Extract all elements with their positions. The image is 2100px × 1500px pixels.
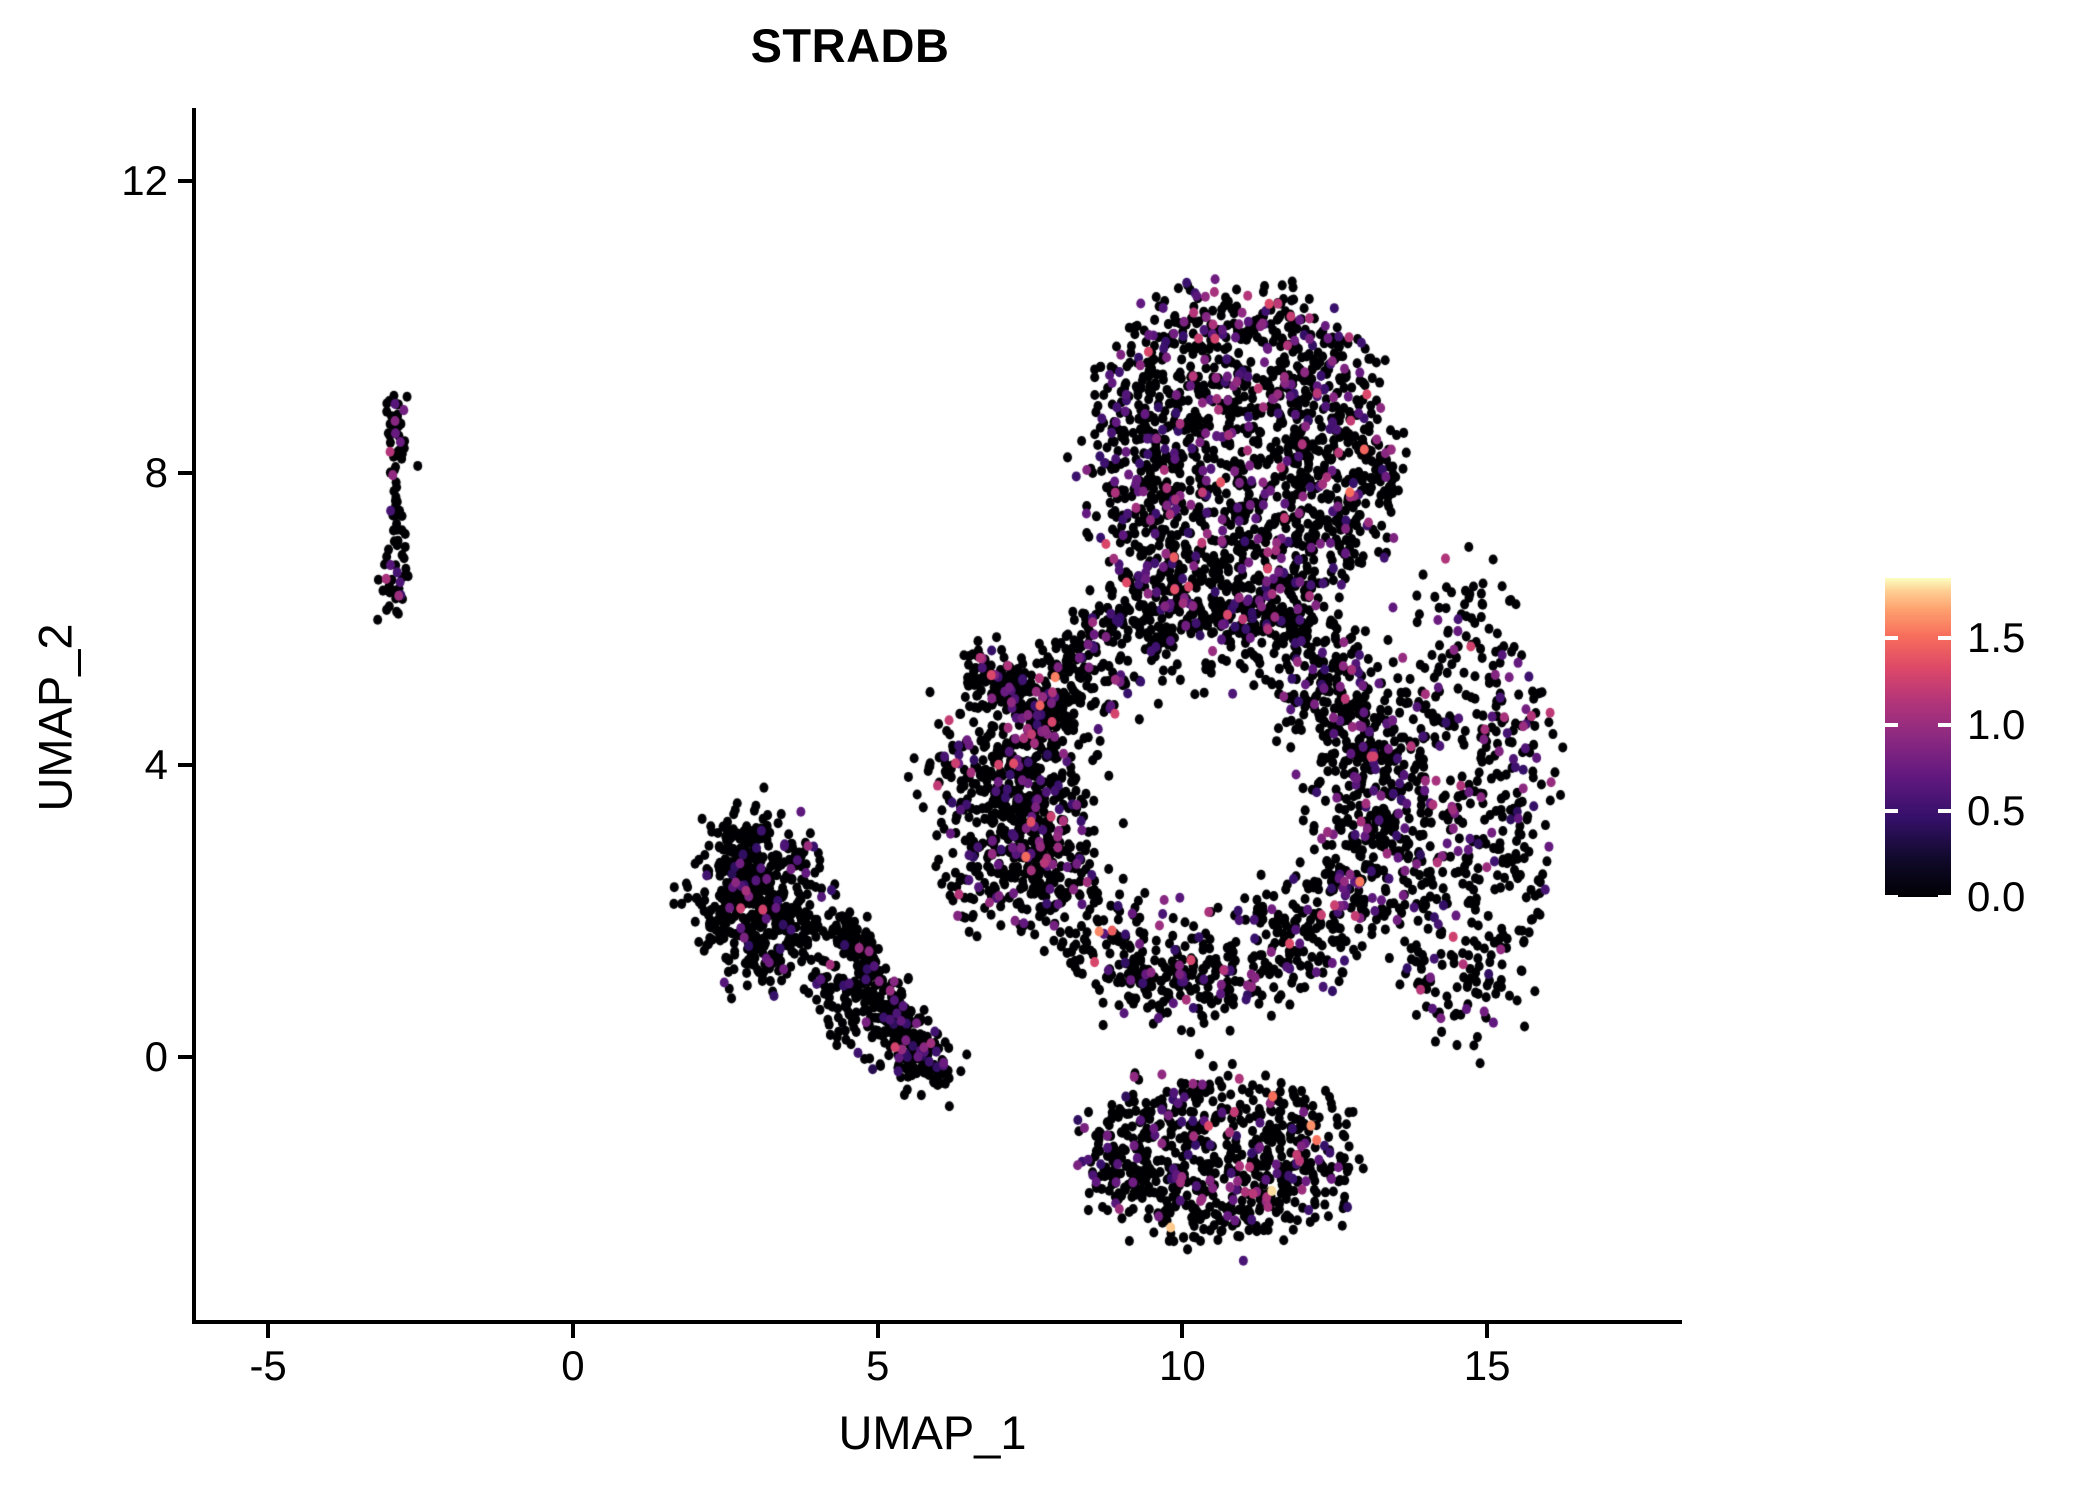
legend-tick-label: 0.5 xyxy=(1967,790,2025,832)
legend-tick-label: 0.0 xyxy=(1967,876,2025,918)
x-tick-label: 15 xyxy=(1464,1345,1511,1387)
x-tick-mark xyxy=(1485,1324,1489,1338)
legend-tick-label: 1.5 xyxy=(1967,617,2025,659)
x-axis-line xyxy=(192,1320,1682,1324)
y-tick-label: 4 xyxy=(145,744,168,786)
color-legend-gradient xyxy=(1885,578,1951,897)
legend-tick-mark xyxy=(1885,636,1898,640)
legend-tick-mark xyxy=(1885,895,1898,899)
y-tick-label: 0 xyxy=(145,1036,168,1078)
x-tick-mark xyxy=(1180,1324,1184,1338)
y-tick-mark xyxy=(178,471,192,475)
x-tick-mark xyxy=(266,1324,270,1338)
legend-tick-mark xyxy=(1885,723,1898,727)
legend-tick-mark xyxy=(1938,895,1951,899)
legend-tick-mark xyxy=(1938,809,1951,813)
x-tick-label: 0 xyxy=(561,1345,584,1387)
y-tick-label: 8 xyxy=(145,452,168,494)
x-tick-mark xyxy=(571,1324,575,1338)
y-axis-line xyxy=(192,108,196,1323)
legend-tick-mark xyxy=(1938,636,1951,640)
page-title: STRADB xyxy=(0,18,1700,73)
plot-panel xyxy=(195,108,1670,1320)
y-tick-mark xyxy=(178,763,192,767)
scatter-plot-canvas xyxy=(195,108,1670,1320)
y-tick-mark xyxy=(178,1055,192,1059)
legend-tick-label: 1.0 xyxy=(1967,704,2025,746)
y-tick-label: 12 xyxy=(121,160,168,202)
umap-feature-plot: STRADB 04812 -5051015 UMAP_1 UMAP_2 0.00… xyxy=(0,0,2100,1500)
x-tick-label: 5 xyxy=(866,1345,889,1387)
x-axis-title: UMAP_1 xyxy=(195,1405,1670,1460)
x-tick-mark xyxy=(876,1324,880,1338)
legend-tick-mark xyxy=(1885,809,1898,813)
x-tick-label: 10 xyxy=(1159,1345,1206,1387)
y-tick-mark xyxy=(178,179,192,183)
color-legend: 0.00.51.01.5 xyxy=(1885,578,2085,908)
legend-tick-mark xyxy=(1938,723,1951,727)
x-tick-label: -5 xyxy=(249,1345,286,1387)
y-axis-title: UMAP_2 xyxy=(28,408,83,1028)
